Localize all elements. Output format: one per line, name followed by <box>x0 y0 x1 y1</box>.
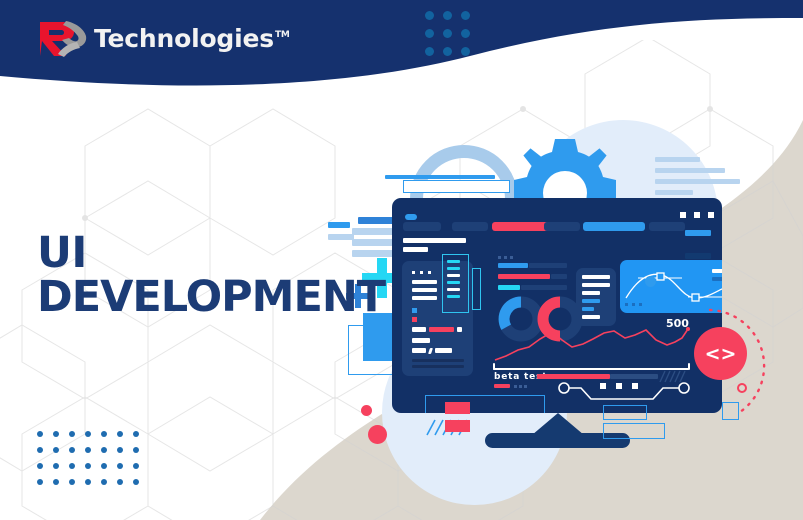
window-dot <box>680 212 686 218</box>
cyan-panel-line <box>447 267 460 270</box>
cyan-panel-line <box>447 260 460 263</box>
decor-pill-outline <box>403 180 510 193</box>
beta-legend-swatch <box>494 384 510 388</box>
center-bar-track <box>521 285 567 290</box>
dot <box>69 479 75 485</box>
nav-tab-2[interactable] <box>452 222 488 231</box>
monitor-stand-neck <box>532 413 584 435</box>
dot <box>425 29 434 38</box>
dot <box>443 29 452 38</box>
red-bar-1 <box>445 402 470 414</box>
decor-pill-bar <box>385 175 495 179</box>
window-dot <box>708 212 714 218</box>
graph-card-label-line <box>712 269 722 273</box>
center-dot <box>498 256 501 259</box>
sidebar-item-line <box>412 288 437 292</box>
stats-card-line <box>582 275 610 279</box>
dot <box>53 463 59 469</box>
sidebar-row-bar-red <box>429 327 454 332</box>
sidebar-footer-bar <box>412 359 464 362</box>
dot <box>425 11 434 20</box>
trademark-symbol: TM <box>275 30 290 40</box>
dot <box>443 47 452 56</box>
dot <box>37 447 43 453</box>
screen-heading-line <box>403 238 466 243</box>
beta-legend-dot <box>514 385 517 388</box>
decor-dot-blue-right <box>645 276 656 287</box>
outline-rect-small <box>603 405 647 420</box>
ui-development-illustration: 500 beta test <box>330 95 803 495</box>
cyan-panel-line <box>447 295 460 298</box>
decor-tab-right <box>685 230 711 236</box>
cyan-panel-line <box>447 288 460 291</box>
nav-tab-4[interactable] <box>544 222 580 231</box>
graph-card-dot <box>639 303 642 306</box>
dot <box>461 29 470 38</box>
center-bar-blue <box>498 263 528 268</box>
sidebar-dot <box>420 271 423 274</box>
dot <box>69 431 75 437</box>
node-connector-path <box>557 378 692 404</box>
sidebar-row-label <box>412 338 430 343</box>
screen-subheading-line <box>403 247 428 252</box>
rx-logo-icon <box>36 18 90 58</box>
dot <box>69 463 75 469</box>
sidebar-dot <box>428 271 431 274</box>
dot <box>85 447 91 453</box>
sidebar-row-label <box>412 327 426 332</box>
sidebar-footer-bar <box>412 365 464 368</box>
text-line-decor-1 <box>655 157 700 162</box>
title-line-2: DEVELOPMENT <box>37 275 385 319</box>
center-dot <box>504 256 507 259</box>
center-bar-red <box>498 274 550 279</box>
center-dot <box>510 256 513 259</box>
text-line-decor-3 <box>655 179 740 184</box>
text-line-decor-4 <box>655 190 693 195</box>
dot <box>85 463 91 469</box>
dotted-arc-decor <box>680 300 800 420</box>
dot <box>101 479 107 485</box>
sidebar-dot <box>412 271 415 274</box>
bottom-input-field[interactable] <box>425 395 545 413</box>
dashboard-screen: 500 beta test <box>392 198 722 413</box>
decor-dot-red-small <box>361 405 372 416</box>
page-title: UI DEVELOPMENT <box>37 231 385 319</box>
cyan-panel-line <box>447 281 460 284</box>
stats-card-line-blue <box>582 299 600 303</box>
center-bar-track <box>551 274 567 279</box>
sidebar-item-line <box>412 280 437 284</box>
dot <box>117 431 123 437</box>
dot <box>133 447 139 453</box>
stats-card-line-blue <box>582 307 594 311</box>
dot <box>461 47 470 56</box>
center-bar-cyan <box>498 285 520 290</box>
window-dot <box>694 212 700 218</box>
dot <box>133 431 139 437</box>
dot <box>85 431 91 437</box>
beta-legend-dot <box>524 385 527 388</box>
nav-tab-6[interactable] <box>649 222 685 231</box>
center-bar-track <box>529 263 567 268</box>
sidebar-row-end <box>457 327 462 332</box>
sidebar-item-line <box>412 296 437 300</box>
brand-name: TechnologiesTM <box>94 24 290 53</box>
dot <box>133 479 139 485</box>
sidebar-row-label <box>435 348 452 353</box>
slide-canvas: TechnologiesTM UI DEVELOPMENT <box>0 0 803 520</box>
dot <box>117 447 123 453</box>
dot <box>117 479 123 485</box>
dot <box>69 447 75 453</box>
sidebar-status-dot-blue <box>412 308 417 313</box>
chart-axis-tick-left <box>493 363 495 370</box>
nav-tab-1[interactable] <box>403 222 441 231</box>
dot <box>37 479 43 485</box>
dot <box>133 463 139 469</box>
sidebar-row-label <box>412 348 426 353</box>
dot <box>101 447 107 453</box>
outline-rect-wide <box>603 423 665 439</box>
dot <box>117 463 123 469</box>
graph-card-dot <box>625 303 628 306</box>
decor-tab-right-2 <box>685 253 711 259</box>
dot <box>37 463 43 469</box>
stats-card-line <box>582 291 600 295</box>
dot <box>461 11 470 20</box>
graph-card-label-line-2 <box>712 277 722 281</box>
dot <box>85 479 91 485</box>
sidebar-status-dot-red <box>412 317 417 322</box>
dot <box>443 11 452 20</box>
nav-active-marker <box>405 214 417 220</box>
dot <box>53 479 59 485</box>
brand-logo[interactable]: TechnologiesTM <box>36 18 290 58</box>
dot <box>425 47 434 56</box>
cyan-panel-line <box>447 274 460 277</box>
stats-card-line <box>582 283 610 287</box>
dot-grid-bottom <box>37 431 139 485</box>
dot <box>101 463 107 469</box>
stats-card-line <box>582 315 600 319</box>
dot <box>101 431 107 437</box>
title-line-1: UI <box>37 228 87 278</box>
decor-dot-red-large <box>368 425 387 444</box>
dot <box>37 431 43 437</box>
main-line-chart <box>492 326 692 368</box>
dot <box>53 431 59 437</box>
brand-name-text: Technologies <box>94 24 274 53</box>
nav-tab-5-selected[interactable] <box>583 222 645 231</box>
text-line-decor-2 <box>655 168 725 173</box>
dot <box>53 447 59 453</box>
graph-card-dot <box>632 303 635 306</box>
beta-legend-dot <box>519 385 522 388</box>
dot-grid-top <box>425 11 470 56</box>
decor-tab-left <box>328 222 350 228</box>
red-bar-2 <box>445 420 470 432</box>
cyan-panel-scroll[interactable] <box>472 268 481 310</box>
